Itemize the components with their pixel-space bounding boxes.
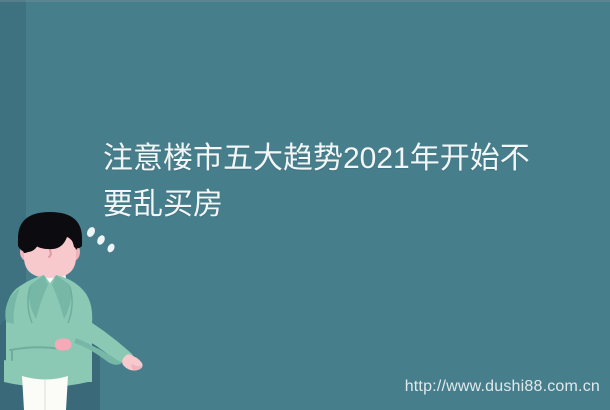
watermark-url: http://www.dushi88.com.cn — [405, 378, 600, 396]
thinking-dot-3 — [106, 242, 116, 253]
thinking-dot-1 — [85, 226, 96, 239]
thinking-dot-2 — [96, 234, 107, 246]
thinking-dots — [0, 210, 200, 410]
image-canvas: 注意楼市五大趋势2021年开始不要乱买房 http://www.dushi88.… — [0, 0, 610, 410]
top-edge-line — [0, 0, 610, 2]
page-title: 注意楼市五大趋势2021年开始不要乱买房 — [103, 136, 543, 228]
